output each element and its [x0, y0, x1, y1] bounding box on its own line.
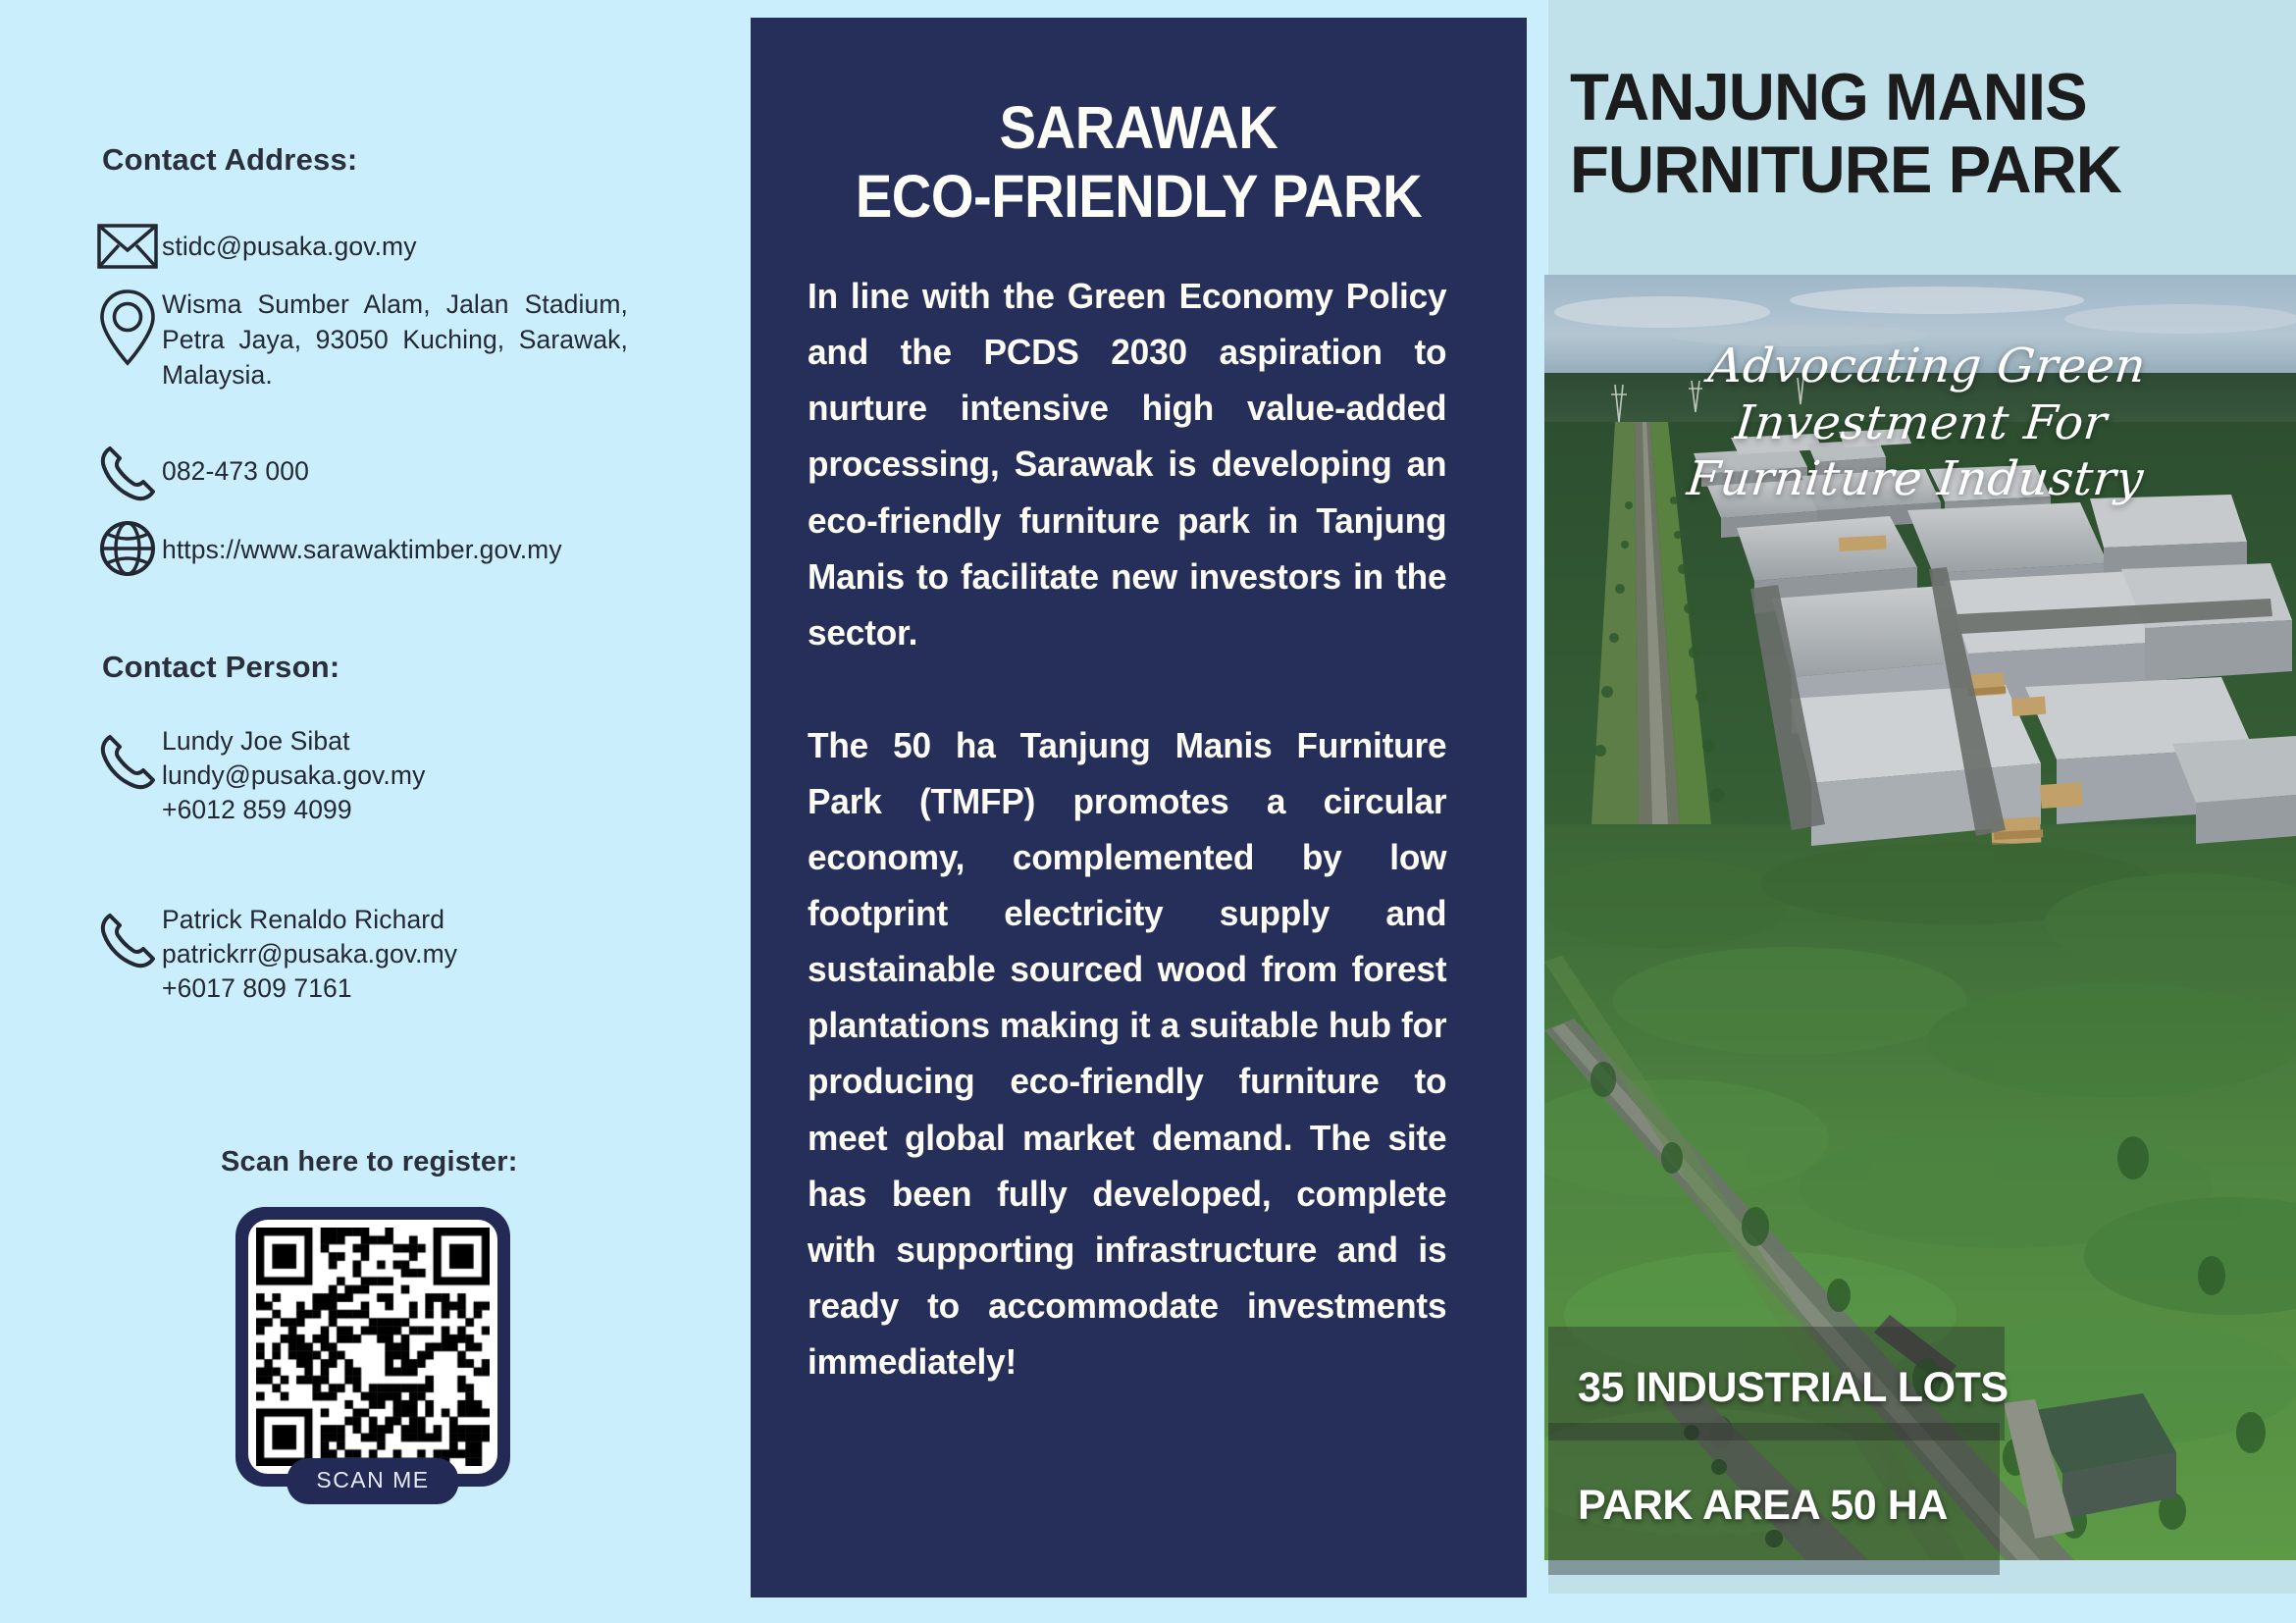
phone-icon [93, 903, 162, 971]
person-1-phone: +6012 859 4099 [162, 793, 425, 827]
person-1-name: Lundy Joe Sibat [162, 724, 425, 759]
cover-title-line-1: TANJUNG MANIS [1570, 60, 2087, 134]
tagline-line-1: Advocating Green Investment For [1705, 339, 2148, 450]
person-2-details: Patrick Renaldo Richard patrickrr@pusaka… [162, 903, 457, 1007]
contact-panel: Contact Address: stidc@pusaka.gov.my Wis… [0, 0, 751, 1623]
qr-code-card[interactable]: SCAN ME [235, 1207, 510, 1487]
center-title-line-2: ECO-FRIENDLY PARK [834, 163, 1443, 232]
location-pin-icon [93, 287, 162, 367]
description-paragraph-2: The 50 ha Tanjung Manis Furniture Park (… [808, 717, 1446, 1389]
eco-park-panel: SARAWAK ECO-FRIENDLY PARK In line with t… [751, 18, 1527, 1597]
person-1-email: lundy@pusaka.gov.my [162, 759, 425, 793]
contact-person-1[interactable]: Lundy Joe Sibat lundy@pusaka.gov.my +601… [93, 724, 425, 828]
contact-person-heading: Contact Person: [102, 650, 339, 685]
description-paragraph-1: In line with the Green Economy Policy an… [808, 268, 1446, 660]
qr-code-inner [248, 1220, 497, 1474]
cover-title: TANJUNG MANIS FURNITURE PARK [1570, 61, 2248, 206]
scan-here-heading: Scan here to register: [221, 1146, 518, 1178]
contact-row-phone[interactable]: 082-473 000 [93, 444, 309, 504]
contact-row-address: Wisma Sumber Alam, Jalan Stadium, Petra … [93, 287, 628, 393]
center-title-line-1: SARAWAK [1000, 94, 1278, 161]
tagline-line-2: Furniture Industry [1569, 451, 2262, 508]
envelope-icon [93, 224, 162, 269]
contact-person-2[interactable]: Patrick Renaldo Richard patrickrr@pusaka… [93, 903, 457, 1007]
email-value: stidc@pusaka.gov.my [162, 224, 417, 264]
scan-me-badge: SCAN ME [287, 1458, 458, 1504]
stat-industrial-lots: 35 INDUSTRIAL LOTS [1578, 1364, 2009, 1412]
phone-icon [93, 724, 162, 793]
cover-tagline: Advocating Green Investment For Furnitur… [1569, 339, 2273, 508]
person-2-phone: +6017 809 7161 [162, 971, 457, 1006]
globe-icon [93, 520, 162, 577]
cover-title-line-2: FURNITURE PARK [1570, 133, 2248, 206]
person-2-name: Patrick Renaldo Richard [162, 903, 457, 937]
address-value: Wisma Sumber Alam, Jalan Stadium, Petra … [162, 287, 628, 393]
stat-park-area: PARK AREA 50 HA [1578, 1482, 1948, 1530]
contact-address-heading: Contact Address: [102, 142, 357, 178]
person-1-details: Lundy Joe Sibat lundy@pusaka.gov.my +601… [162, 724, 425, 828]
brochure-page: Contact Address: stidc@pusaka.gov.my Wis… [0, 0, 2296, 1623]
contact-row-email[interactable]: stidc@pusaka.gov.my [93, 224, 417, 269]
website-value: https://www.sarawaktimber.gov.my [162, 520, 562, 567]
center-panel-title: SARAWAK ECO-FRIENDLY PARK [834, 94, 1443, 231]
qr-code-image[interactable] [256, 1228, 490, 1466]
contact-row-website[interactable]: https://www.sarawaktimber.gov.my [93, 520, 562, 577]
phone-icon [93, 444, 162, 504]
phone-value: 082-473 000 [162, 444, 309, 489]
person-2-email: patrickrr@pusaka.gov.my [162, 937, 457, 971]
